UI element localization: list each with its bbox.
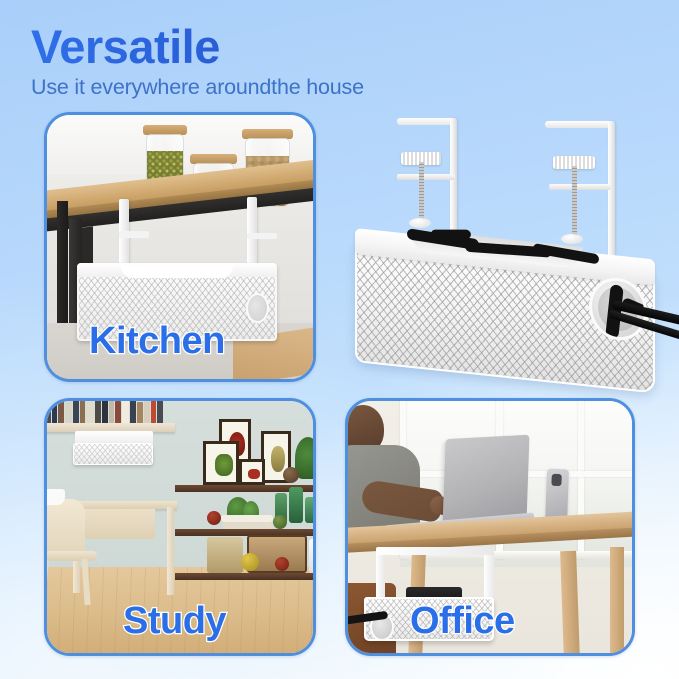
panel-study[interactable]: Study [44, 398, 316, 656]
panel-kitchen[interactable]: Kitchen [44, 112, 316, 382]
cable-exit-port [246, 293, 269, 323]
chair [44, 499, 85, 557]
white-vase [309, 539, 316, 573]
label-kitchen: Kitchen [89, 320, 225, 363]
page-title: Versatile [31, 22, 651, 71]
bookshelf-books [44, 398, 175, 424]
panel-office[interactable]: Office [345, 398, 635, 656]
cable-tray-product [355, 244, 655, 362]
header: Versatile Use it everywhere aroundthe ho… [31, 22, 651, 101]
desk-cup [44, 489, 65, 505]
green-vase-3 [305, 497, 316, 523]
desk-leg [167, 507, 174, 595]
decor-ball-3 [241, 553, 259, 571]
cable-tray-study [73, 443, 153, 465]
green-vase-2 [289, 487, 303, 523]
stacked-books-1 [221, 515, 273, 522]
label-study: Study [123, 600, 226, 643]
label-office: Office [410, 600, 515, 643]
display-shelf-bottom [175, 573, 316, 580]
phone-camera [551, 474, 561, 486]
decor-ball-2 [207, 511, 221, 525]
woven-basket [207, 537, 243, 573]
product-hero-image [345, 118, 665, 376]
decor-ball-1 [283, 467, 299, 483]
framed-art-4 [239, 459, 265, 485]
framed-art-2 [203, 441, 239, 485]
page-subtitle: Use it everywhere aroundthe house [31, 75, 651, 101]
